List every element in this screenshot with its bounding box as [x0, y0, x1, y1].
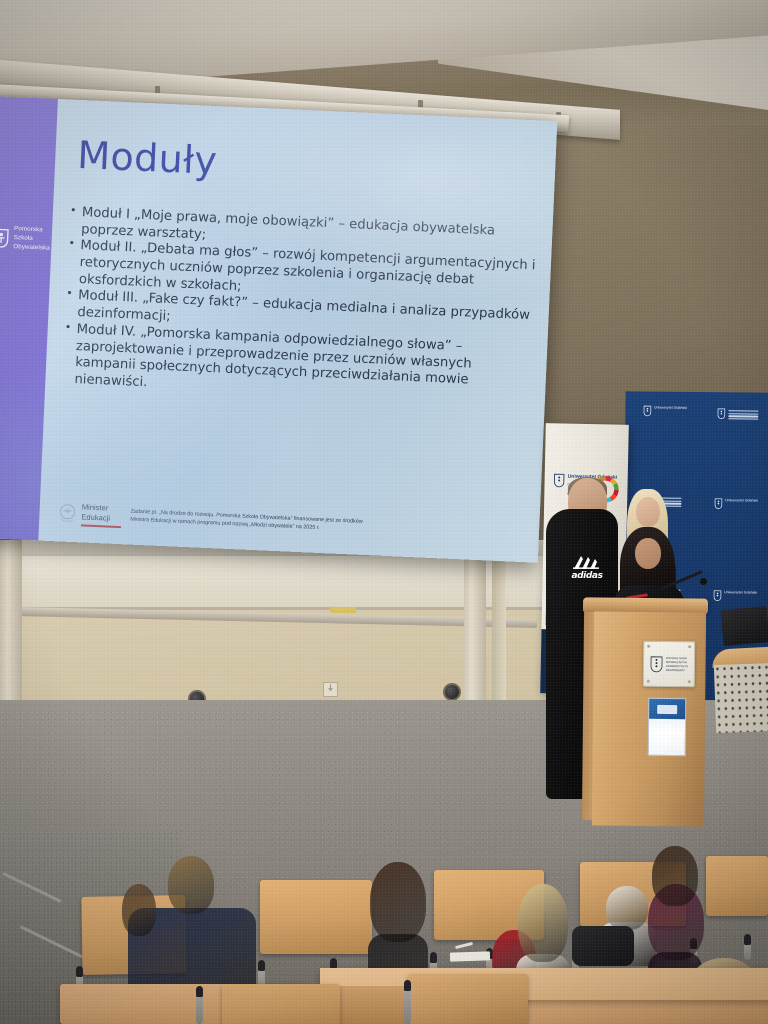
- pso-line-3: Obywatelska: [13, 243, 50, 253]
- backdrop-logo-text: Uniwersytet Gdański: [724, 590, 757, 595]
- slide-bullet-list: Moduł I „Moje prawa, moje obowiązki” – e…: [61, 205, 539, 409]
- pso-emblem-icon: [0, 228, 9, 248]
- speaker-darkhair-head: [635, 538, 661, 569]
- ministry-of-education-logo: Minister Edukacji: [57, 501, 122, 528]
- backdrop-logo-text: Uniwersytet Gdański: [725, 498, 758, 503]
- paper-sheet: [450, 951, 490, 961]
- pso-logo-text: Pomorska Szkoła Obywatelska: [13, 225, 51, 253]
- slide-footer: Minister Edukacji Zadanie pt. „Na drodze…: [57, 501, 520, 546]
- plaque-screw-icon: [647, 680, 650, 683]
- backdrop-logo-text: Uniwersytet Gdański: [654, 406, 687, 411]
- speaker-blonde-head: [636, 497, 660, 527]
- ug-shield-icon: [717, 408, 725, 419]
- plaque-screw-icon: [688, 680, 691, 683]
- plaque-screw-icon: [688, 645, 691, 648]
- backdrop-logo-lines: [728, 408, 758, 421]
- audience-person-head: [370, 862, 426, 942]
- backdrop-logo: Uniwersytet Gdański: [643, 405, 687, 416]
- backdrop-logo: Uniwersytet Gdański: [714, 498, 758, 509]
- podium-leaflet: [648, 698, 687, 756]
- seat-back: [260, 880, 372, 954]
- backdrop-logo: [717, 408, 758, 421]
- leaflet-header: [649, 699, 685, 719]
- audience-person-head: [606, 886, 648, 930]
- ministry-line-2: Edukacji: [81, 512, 121, 524]
- ministry-text: Minister Edukacji: [81, 502, 122, 528]
- presentation-photo-scene: ⏚ Pomorska Szkoła: [0, 0, 768, 1024]
- desk-perforated-panel: [714, 663, 768, 733]
- audience-person-head: [168, 856, 214, 914]
- faculty-crest-icon: [650, 655, 663, 672]
- seat-back: [222, 984, 340, 1024]
- seat-arm: [404, 980, 411, 1024]
- ug-shield-icon: [713, 590, 721, 601]
- seat-arm: [196, 986, 203, 1024]
- backpack: [572, 926, 634, 966]
- adidas-trefoil-icon: [572, 555, 602, 570]
- seat-back: [706, 856, 768, 916]
- backdrop-logo: Uniwersytet Gdański: [713, 590, 757, 601]
- seat-back: [408, 974, 528, 1024]
- presentation-slide: Pomorska Szkoła Obywatelska Moduły Moduł…: [0, 96, 557, 563]
- projection-screen: Pomorska Szkoła Obywatelska Moduły Moduł…: [0, 96, 557, 563]
- ministry-rule: [81, 525, 121, 528]
- audience-person-head: [652, 846, 698, 906]
- right-wall-section: [540, 95, 768, 425]
- hoodie-brand-graphic: adidas: [570, 555, 604, 581]
- marker-on-rail: [330, 607, 356, 614]
- computer-monitor: [721, 606, 768, 646]
- podium-plaque: WYDZIAŁ NAUK SPOŁECZNYCH UNIWERSYTETU GD…: [643, 641, 695, 688]
- power-socket-icon: ⏚: [323, 682, 338, 697]
- pomorska-szkola-logo: Pomorska Szkoła Obywatelska: [0, 224, 51, 253]
- floor-outlet-icon: [443, 683, 461, 701]
- slide-title: Moduły: [76, 133, 218, 183]
- plaque-line-4: GDAŃSKIEGO: [666, 668, 688, 672]
- audience-person-head: [122, 884, 156, 936]
- ug-shield-icon: [714, 498, 722, 509]
- microphone-head-icon: [700, 578, 707, 585]
- hoodie-brand-text: adidas: [570, 571, 604, 581]
- seat-arm: [744, 934, 751, 960]
- plaque-screw-icon: [647, 645, 650, 648]
- ug-shield-icon: [643, 405, 651, 416]
- funding-note: Zadanie pt. „Na drodze do rozwoju. Pomor…: [130, 504, 363, 534]
- plaque-text: WYDZIAŁ NAUK SPOŁECZNYCH UNIWERSYTETU GD…: [666, 656, 689, 672]
- slide-content: Moduły Moduł I „Moje prawa, moje obowiąz…: [38, 99, 557, 563]
- polish-eagle-icon: [57, 502, 78, 525]
- audience-person-head: [518, 884, 568, 962]
- ug-shield-icon: [553, 473, 564, 487]
